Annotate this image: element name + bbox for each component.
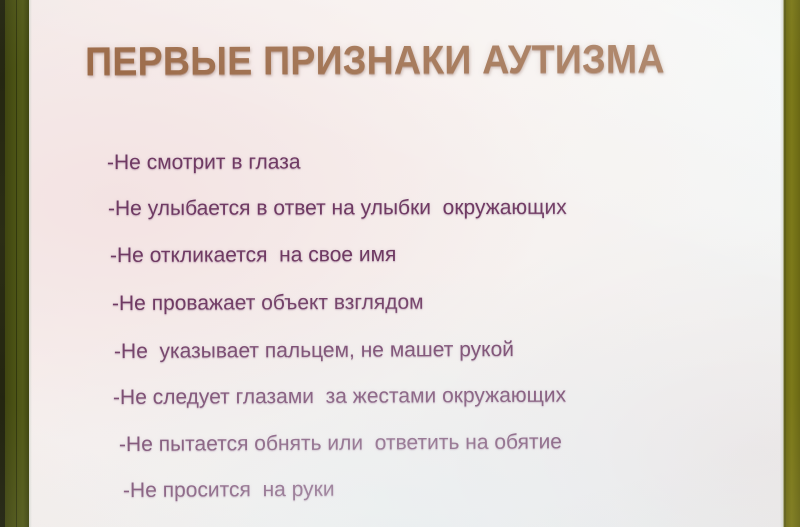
list-item: -Не указывает пальцем, не машет рукой xyxy=(114,337,514,365)
slide-bullet-list: -Не смотрит в глаза -Не улыбается в отве… xyxy=(29,0,784,527)
wall-panel-left-green xyxy=(5,0,30,527)
list-item: -Не смотрит в глаза xyxy=(107,149,301,176)
list-item: -Не следует глазами за жестами окружающи… xyxy=(113,383,566,411)
projection-screen: ПЕРВЫЕ ПРИЗНАКИ АУТИЗМА -Не смотрит в гл… xyxy=(29,0,784,527)
list-item: -Не проважает объект взглядом xyxy=(112,290,424,317)
list-item: -Не улыбается в ответ на улыбки окружающ… xyxy=(108,195,567,222)
wall-panel-right-green xyxy=(786,0,800,527)
slide-photo-stage: ПЕРВЫЕ ПРИЗНАКИ АУТИЗМА -Не смотрит в гл… xyxy=(0,0,800,527)
list-item: -Не пытается обнять или ответить на обят… xyxy=(119,429,562,458)
list-item: -Не просится на руки xyxy=(123,477,335,504)
list-item: -Не откликается на свое имя xyxy=(110,242,397,269)
